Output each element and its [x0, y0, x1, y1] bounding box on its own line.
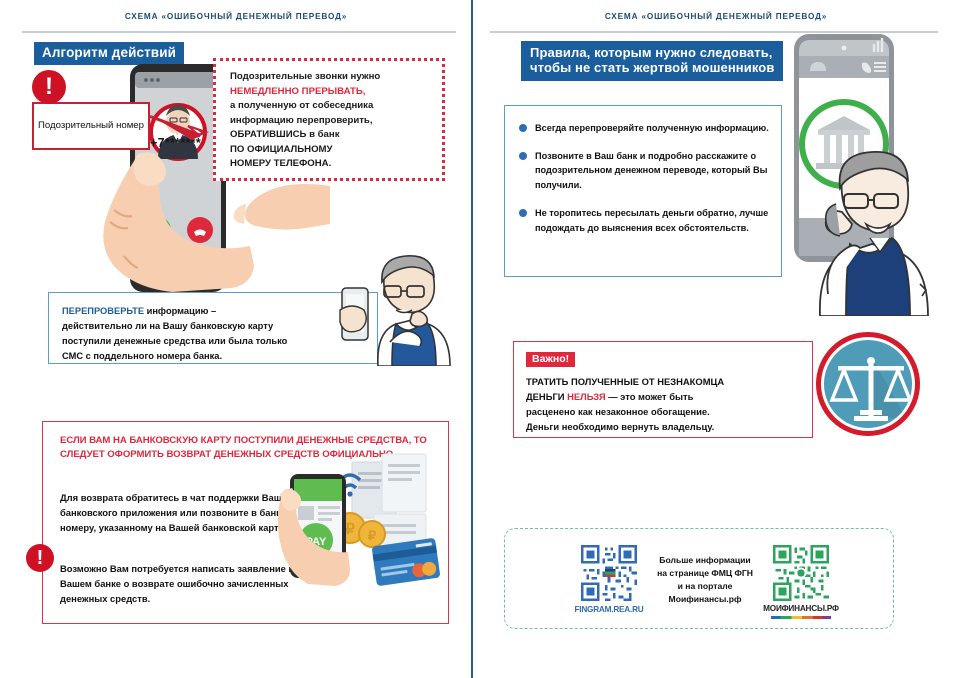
- justice-scales-circle: [824, 340, 912, 428]
- recheck-line-3: поступили денежные средства или была тол…: [62, 336, 287, 346]
- qr-left-label: FINGRAM.REA.RU: [563, 605, 655, 614]
- callout-line-3: а полученную от собеседника: [230, 100, 373, 111]
- important-box: Важно! ТРАТИТЬ ПОЛУЧЕННЫЕ ОТ НЕЗНАКОМЦА …: [513, 341, 813, 438]
- bullet-icon: [519, 209, 527, 217]
- svg-text:₽: ₽: [345, 521, 355, 538]
- right-page-header: СХЕМА «ОШИБОЧНЫЙ ДЕНЕЖНЫЙ ПЕРЕВОД»: [472, 0, 960, 33]
- important-line-2-prefix: ДЕНЬГИ: [526, 391, 567, 402]
- infographic-spread: СХЕМА «ОШИБОЧНЫЙ ДЕНЕЖНЫЙ ПЕРЕВОД» Алгор…: [0, 0, 960, 678]
- recheck-line1-rest: информацию –: [144, 306, 216, 316]
- callout-line-5: ОБРАТИВШИСЬ в банк: [230, 129, 340, 140]
- important-line-2-suffix: — это может быть: [606, 391, 694, 402]
- refund-instructions-box: ЕСЛИ ВАМ НА БАНКОВСКУЮ КАРТУ ПОСТУПИЛИ Д…: [42, 421, 449, 624]
- rule-text-2: Позвоните в Ваш банк и подробно расскажи…: [535, 149, 771, 193]
- refund-paragraph-2: Возможно Вам потребуется написать заявле…: [60, 561, 312, 607]
- qr-code-fingram-icon[interactable]: [581, 545, 637, 601]
- right-page: СХЕМА «ОШИБОЧНЫЙ ДЕНЕЖНЫЙ ПЕРЕВОД» Прави…: [472, 0, 960, 678]
- rule-text-1: Всегда перепроверяйте полученную информа…: [535, 121, 769, 136]
- svg-text:₽: ₽: [368, 528, 377, 543]
- thinking-man-illustration: [362, 252, 466, 366]
- callout-line-4: информацию перепроверить,: [230, 115, 372, 126]
- footer-caption-line-3: и на портале: [678, 581, 733, 591]
- footer-caption-line-2: на странице ФМЦ ФГН: [657, 568, 753, 578]
- left-page-header: СХЕМА «ОШИБОЧНЫЙ ДЕНЕЖНЫЙ ПЕРЕВОД»: [0, 0, 472, 33]
- footer-caption-line-1: Больше информации: [659, 555, 750, 565]
- warning-exclamation-icon-bottom: !: [26, 544, 54, 572]
- scales-of-justice-icon: [824, 340, 912, 428]
- recheck-accent: ПЕРЕПРОВЕРЬТЕ: [62, 306, 144, 316]
- callout-line-2-accent: НЕМЕДЛЕННО ПРЕРЫВАТЬ,: [230, 86, 365, 97]
- recheck-line-4: СМС с поддельного номера банка.: [62, 351, 222, 361]
- rules-box: Всегда перепроверяйте полученную информа…: [504, 105, 782, 277]
- rules-banner: Правила, которым нужно следовать, чтобы …: [521, 41, 783, 81]
- important-line-1: ТРАТИТЬ ПОЛУЧЕННЫЕ ОТ НЕЗНАКОМЦА: [526, 376, 724, 387]
- callout-line-1: Подозрительные звонки нужно: [230, 71, 380, 82]
- footer-caption: Больше информации на странице ФМЦ ФГН и …: [645, 554, 765, 606]
- rule-list-item: Позвоните в Ваш банк и подробно расскажи…: [519, 149, 771, 193]
- footer-caption-line-4: Моифинансы.рф: [669, 594, 742, 604]
- bullet-icon: [519, 124, 527, 132]
- recheck-line-2: действительно ли на Вашу банковскую карт…: [62, 321, 273, 331]
- rules-list: Всегда перепроверяйте полученную информа…: [519, 121, 771, 235]
- left-page: СХЕМА «ОШИБОЧНЫЙ ДЕНЕЖНЫЙ ПЕРЕВОД» Алгор…: [0, 0, 472, 678]
- left-header-rule: [22, 31, 456, 33]
- rule-list-item: Всегда перепроверяйте полученную информа…: [519, 121, 771, 136]
- recheck-info-box: ПЕРЕПРОВЕРЬТЕ информацию – действительно…: [48, 292, 378, 364]
- pointing-finger-illustration: [212, 176, 332, 256]
- warning-exclamation-icon-top: !: [32, 70, 66, 104]
- bullet-icon: [519, 152, 527, 160]
- rule-list-item: Не торопитесь пересылать деньги обратно,…: [519, 206, 771, 235]
- rule-text-3: Не торопитесь пересылать деньги обратно,…: [535, 206, 771, 235]
- man-calling-bank-illustration: [808, 146, 956, 316]
- footer-info-box: Больше информации на странице ФМЦ ФГН и …: [504, 528, 894, 629]
- left-header-title: СХЕМА «ОШИБОЧНЫЙ ДЕНЕЖНЫЙ ПЕРЕВОД»: [0, 12, 472, 21]
- suspicious-number-callout: Подозрительный номер: [32, 102, 150, 150]
- refund-paragraph-1: Для возврата обратитесь в чат поддержки …: [60, 490, 312, 536]
- important-tag: Важно!: [526, 352, 575, 367]
- right-header-title: СХЕМА «ОШИБОЧНЫЙ ДЕНЕЖНЫЙ ПЕРЕВОД»: [472, 12, 960, 21]
- qr-right-label: МОИФИНАНСЫ.РФ: [755, 604, 847, 613]
- rules-banner-line-1: Правила, которым нужно следовать,: [530, 45, 774, 60]
- page-divider: [471, 0, 473, 678]
- important-text: ТРАТИТЬ ПОЛУЧЕННЫЕ ОТ НЕЗНАКОМЦА ДЕНЬГИ …: [526, 374, 802, 434]
- important-line-4: Деньги необходимо вернуть владельцу.: [526, 421, 714, 432]
- important-line-3: расценено как незаконное обогащение.: [526, 406, 710, 417]
- important-line-2-accent: НЕЛЬЗЯ: [567, 391, 605, 402]
- callout-arrow-icon: [148, 110, 216, 146]
- payment-documents-illustration: ₽ ₽ PAY: [278, 446, 443, 606]
- rules-banner-line-2: чтобы не стать жертвой мошенников: [530, 60, 774, 75]
- recheck-info-text: ПЕРЕПРОВЕРЬТЕ информацию – действительно…: [62, 304, 367, 364]
- moifinansy-color-bar: [771, 616, 831, 619]
- justice-scales-badge: [816, 332, 920, 436]
- qr-code-moifinansy-icon[interactable]: [773, 545, 829, 601]
